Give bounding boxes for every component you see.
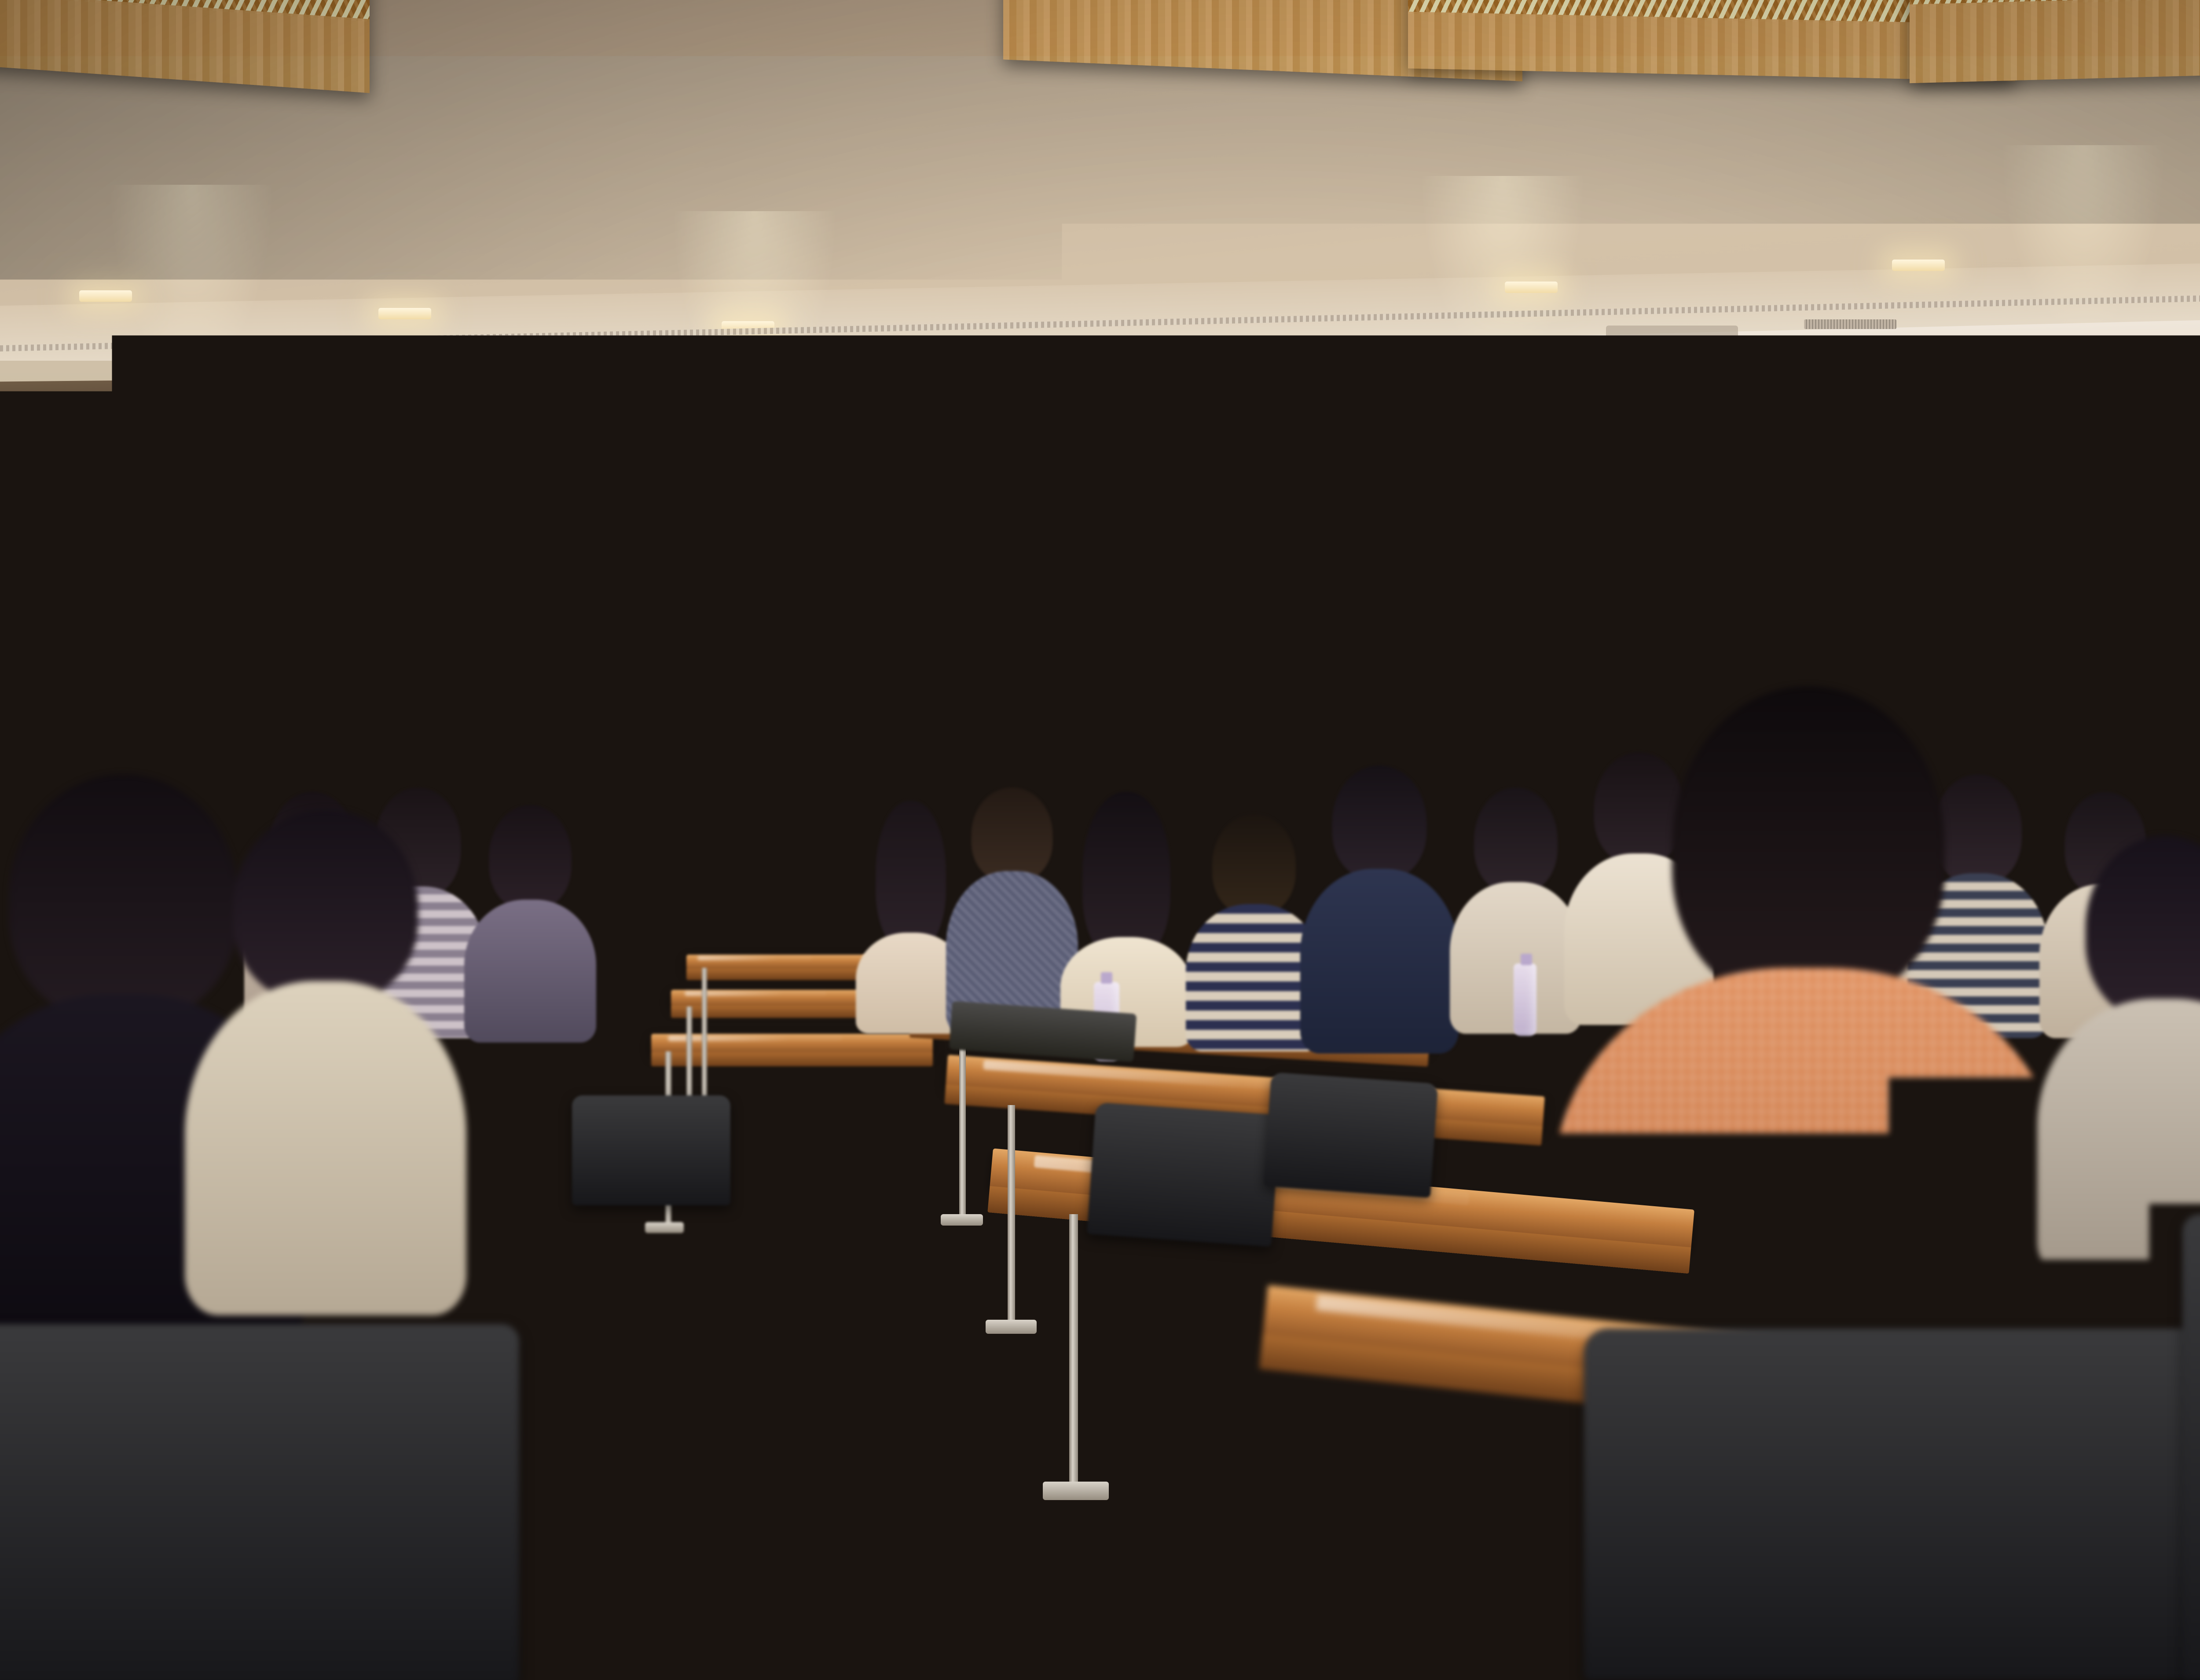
dove-icon: ❦ (581, 571, 596, 592)
desk-leg (1008, 1105, 1015, 1325)
campus-building (997, 493, 1151, 600)
chair[interactable] (2182, 1214, 2200, 1680)
air-vent (1804, 319, 1896, 329)
desk-front (686, 969, 871, 980)
attendee-body (464, 900, 596, 1043)
downlight (1505, 282, 1558, 293)
attendee (1060, 792, 1192, 1047)
desk-leg (959, 1034, 966, 1219)
attendee-head (233, 809, 418, 1003)
desk (651, 1034, 933, 1053)
star-icon: ★ (2094, 419, 2103, 428)
downlight (378, 308, 431, 319)
star-icon: ★ (354, 472, 363, 481)
downlight (1892, 260, 1945, 271)
star-icon: ★ (370, 465, 378, 474)
attendee-head (1082, 792, 1170, 959)
eyeglasses-icon (576, 703, 640, 718)
desk-sheen (697, 956, 812, 960)
campus-building (1160, 461, 1208, 598)
air-vent (669, 348, 748, 357)
chair[interactable] (1584, 1329, 2200, 1680)
attendee-foreground (2042, 836, 2200, 1276)
speaker-hair (570, 665, 644, 706)
desk-foot (986, 1320, 1037, 1334)
water-bottle (1514, 963, 1536, 1036)
star-icon: ★ (2086, 434, 2094, 443)
attendee-head (2086, 836, 2200, 1021)
attendee (466, 805, 594, 1043)
attendee-body (185, 981, 466, 1315)
chair[interactable] (1263, 1072, 1438, 1198)
attendee (946, 787, 1078, 1034)
attendee-foreground (189, 809, 462, 1315)
attendee (1302, 765, 1456, 1051)
attendee-body (1300, 869, 1459, 1054)
desk-front (651, 1052, 933, 1066)
ceiling-slab (1910, 0, 2200, 83)
desk (686, 955, 871, 970)
desk-foot (1043, 1482, 1109, 1500)
ceiling-coffer-far-right (1910, 0, 2200, 83)
attendee-head (1332, 765, 1427, 880)
chair[interactable] (0, 1324, 519, 1680)
calligraphy-right: 立诚致 (1910, 477, 1989, 659)
dove-icon: ❦ (1836, 547, 1852, 569)
desk-leg (1069, 1214, 1078, 1487)
desk-sheen (668, 1036, 843, 1041)
star-icon: ★ (2091, 450, 2100, 459)
microphone-icon (552, 792, 567, 807)
attendee-head (1212, 814, 1296, 915)
chinese-flag-left: ★ ★ ★ ★ ★ (334, 416, 510, 536)
star-icon: ★ (341, 440, 359, 460)
attendee-head (876, 801, 946, 950)
star-icon: ★ (2107, 456, 2116, 466)
attendee-head (489, 805, 572, 910)
desk-foot (645, 1222, 684, 1233)
desk-foot (941, 1214, 983, 1226)
attendee-body (2037, 999, 2200, 1276)
attendee-head (1474, 787, 1558, 893)
downlight (79, 290, 132, 302)
chair[interactable] (572, 1095, 730, 1205)
attendee-head (972, 787, 1053, 882)
star-icon: ★ (375, 449, 384, 458)
campus-building (1218, 502, 1304, 598)
attendee-foreground-primary (1566, 686, 2050, 1434)
desk-leg (702, 968, 707, 1113)
star-icon: ★ (2110, 425, 2116, 445)
attendee-head (1672, 686, 1945, 1003)
dove-icon: ❦ (1874, 520, 1896, 552)
conference-hall-scene: ★ ★ ★ ★ ★ ★ ★ ★ ★ ★ (0, 0, 2200, 1680)
star-icon: ★ (366, 434, 375, 443)
chair[interactable] (1087, 1102, 1280, 1247)
campus-building (1314, 485, 1429, 597)
